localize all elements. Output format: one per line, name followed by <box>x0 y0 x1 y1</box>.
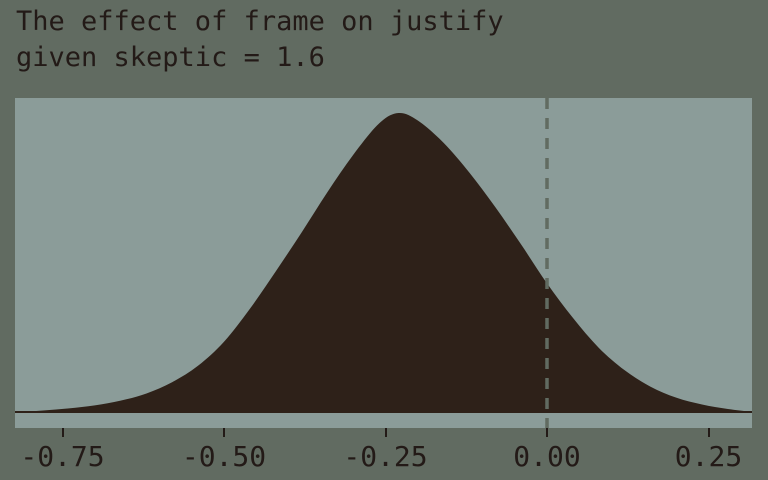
x-axis: -0.75-0.50-0.250.000.25 <box>0 428 768 480</box>
plot-area <box>15 98 752 428</box>
density-fill <box>17 113 752 412</box>
x-tick-mark <box>62 428 64 437</box>
x-tick-mark <box>546 428 548 437</box>
x-tick-label: -0.25 <box>343 440 427 474</box>
x-tick-label: -0.50 <box>182 440 266 474</box>
page-title: The effect of frame on justify given ske… <box>16 4 756 76</box>
density-curve <box>15 98 752 428</box>
x-tick-mark <box>385 428 387 437</box>
x-tick-label: 0.25 <box>675 440 742 474</box>
x-tick-mark <box>708 428 710 437</box>
x-tick-label: -0.75 <box>20 440 104 474</box>
density-plot-figure: The effect of frame on justify given ske… <box>0 0 768 480</box>
x-tick-label: 0.00 <box>513 440 580 474</box>
x-tick-mark <box>223 428 225 437</box>
